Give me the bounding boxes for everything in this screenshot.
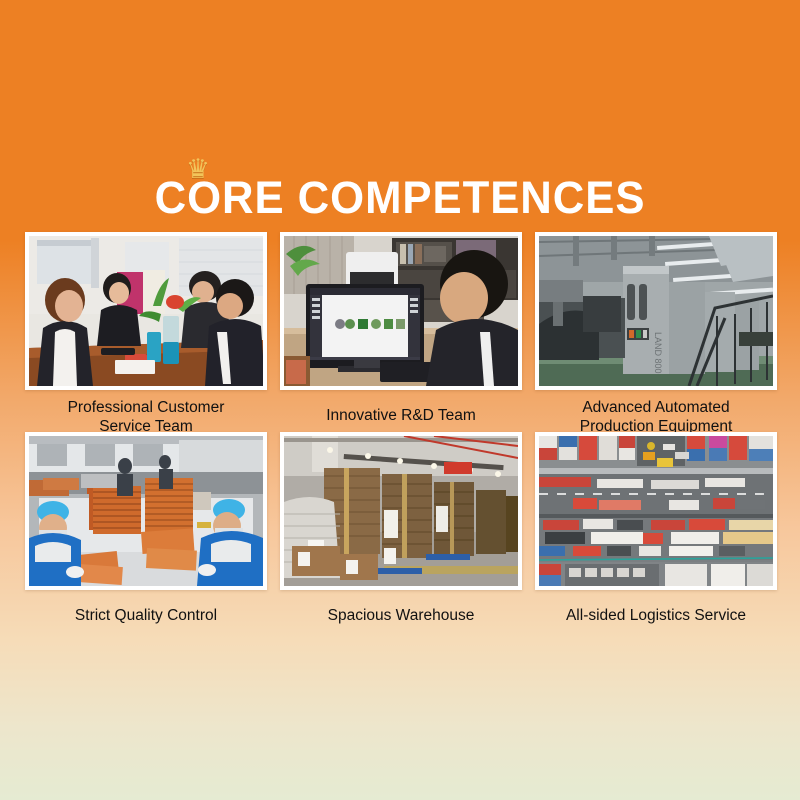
photo-printing-press: LAND 800 [539, 236, 773, 386]
card-caption: Innovative R&D Team [280, 390, 522, 432]
logistics-yard-illustration [539, 436, 773, 586]
card-caption: Advanced Automated Production Equipment [535, 390, 777, 432]
meeting-room-illustration [29, 236, 263, 386]
photo-frame [280, 432, 522, 590]
caption-line-1: Spacious Warehouse [282, 606, 520, 625]
card-caption: Professional Customer Service Team [25, 390, 267, 432]
svg-text:LAND 800: LAND 800 [653, 332, 663, 374]
photo-logistics-yard [539, 436, 773, 586]
caption-line-1: Strict Quality Control [27, 606, 265, 625]
competence-card-advanced-automated-production-equipment[interactable]: LAND 800 [535, 232, 777, 432]
competence-card-strict-quality-control[interactable]: Strict Quality Control [25, 432, 267, 632]
photo-meeting-room [29, 236, 263, 386]
competences-grid: Professional Customer Service Team [25, 232, 775, 632]
photo-frame [25, 232, 267, 390]
competence-card-innovative-rd-team[interactable]: Innovative R&D Team [280, 232, 522, 432]
photo-frame: LAND 800 [535, 232, 777, 390]
rd-workstation-illustration [284, 236, 518, 386]
photo-warehouse [284, 436, 518, 586]
page-title: ♛ CORE COMPETENCES [0, 152, 800, 226]
caption-line-1: All-sided Logistics Service [537, 606, 775, 625]
card-caption: Spacious Warehouse [280, 590, 522, 632]
competence-card-spacious-warehouse[interactable]: Spacious Warehouse [280, 432, 522, 632]
competence-card-professional-customer-service-team[interactable]: Professional Customer Service Team [25, 232, 267, 432]
warehouse-illustration [284, 436, 518, 586]
caption-line-1: Advanced Automated [537, 398, 775, 417]
caption-line-1: Professional Customer [27, 398, 265, 417]
photo-frame [25, 432, 267, 590]
photo-frame [535, 432, 777, 590]
page-title-text: CORE COMPETENCES [155, 152, 646, 226]
quality-control-illustration [29, 436, 263, 586]
card-caption: Strict Quality Control [25, 590, 267, 632]
printing-press-illustration: LAND 800 [539, 236, 773, 386]
photo-quality-control [29, 436, 263, 586]
card-caption: All-sided Logistics Service [535, 590, 777, 632]
caption-line-1: Innovative R&D Team [282, 406, 520, 425]
competence-card-all-sided-logistics-service[interactable]: All-sided Logistics Service [535, 432, 777, 632]
photo-rd-workstation [284, 236, 518, 386]
photo-frame [280, 232, 522, 390]
